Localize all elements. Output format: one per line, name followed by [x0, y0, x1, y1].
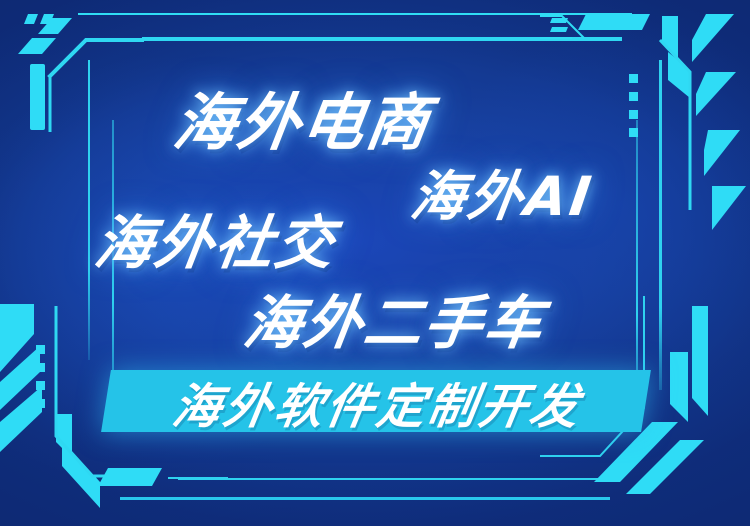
dot: [629, 128, 638, 137]
ribbon-label-software-custom-development: 海外软件定制开发: [124, 376, 632, 428]
dot-column-top-right: [629, 74, 638, 137]
dot: [36, 381, 45, 390]
dot: [629, 110, 638, 119]
headline-overseas-used-car: 海外二手车: [239, 276, 551, 360]
dot: [629, 74, 638, 83]
frame-line-left-vertical: [88, 60, 90, 360]
frame-line-right-vertical: [659, 60, 662, 390]
dot: [629, 92, 638, 101]
headline-overseas-social: 海外社交: [90, 196, 342, 280]
frame-line-bottom-thin: [178, 478, 598, 480]
frame-line-top-thin: [92, 13, 632, 15]
frame-line-top-thick: [142, 37, 622, 41]
dot: [36, 345, 45, 354]
headline-overseas-ai: 海外AI: [406, 152, 599, 231]
dot: [36, 399, 45, 408]
tech-promo-banner: 海外电商 海外AI 海外社交 海外二手车 海外软件定制开发: [0, 0, 750, 526]
dot: [36, 363, 45, 372]
frame-line-bottom-thick: [120, 497, 610, 500]
dot-column-bottom-left: [36, 345, 45, 408]
headline-overseas-ecommerce: 海外电商: [169, 72, 438, 162]
